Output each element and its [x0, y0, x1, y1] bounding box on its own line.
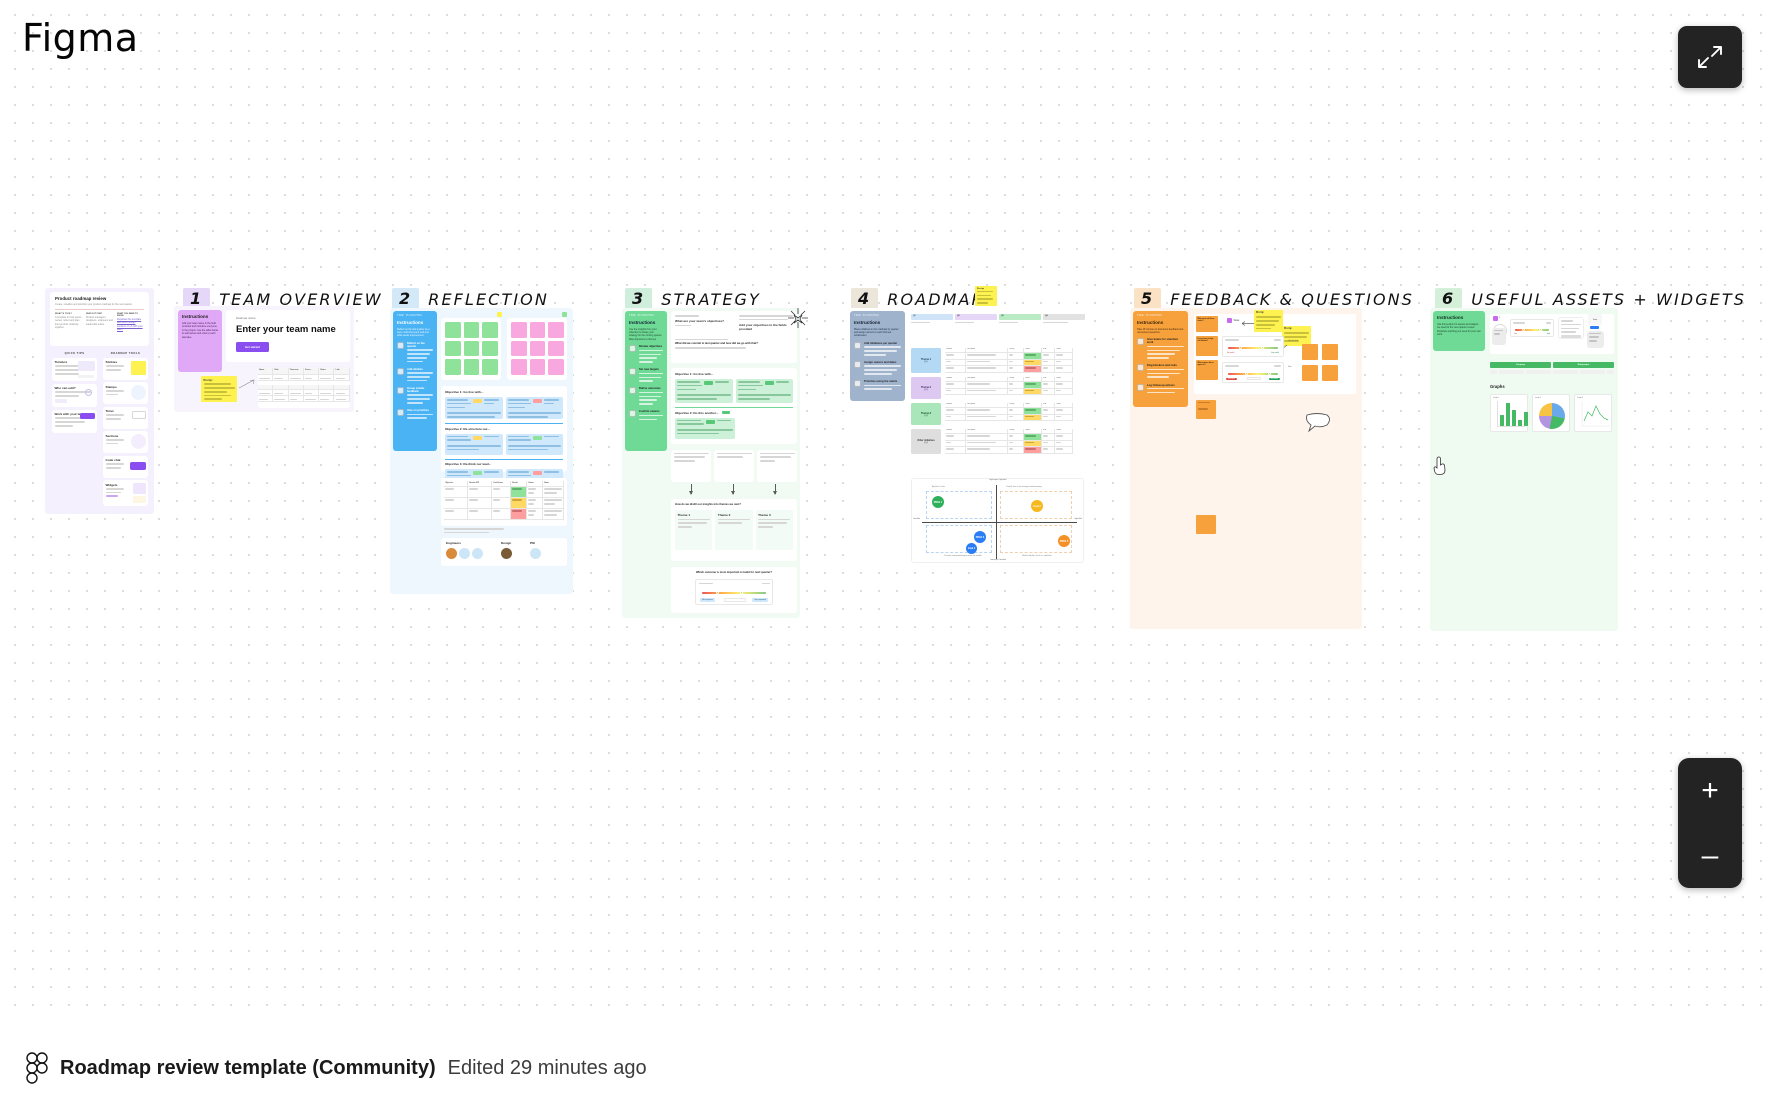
roadmap-tool-card[interactable]: Sections	[103, 431, 148, 453]
table-header-cell: Role	[273, 368, 288, 375]
sticky-note[interactable]	[511, 322, 527, 338]
matrix-bubble[interactable]: Goal 2	[1031, 500, 1043, 512]
form-widget[interactable]	[1558, 317, 1584, 339]
instruction-item-title: Add initiatives per quarter	[864, 342, 901, 345]
table-row[interactable]	[444, 509, 564, 520]
matrix-y-bottom-label: Low impact / low effort	[980, 560, 1016, 561]
section1-instructions-card[interactable]: Instructions Add your team name in the f…	[178, 310, 222, 372]
avatar[interactable]	[501, 548, 512, 559]
bullet-icon	[1137, 364, 1144, 371]
section-2-frame[interactable]: TIME: 15 MINUTES Instructions Reflect on…	[390, 308, 573, 594]
sticky-note[interactable]	[464, 341, 480, 357]
vote-icon[interactable]	[1227, 318, 1232, 323]
cover-subtitle: Create, visualize and prioritize your pr…	[55, 303, 144, 306]
bullet-icon	[1137, 338, 1144, 345]
bar	[1512, 410, 1516, 426]
sticky-note[interactable]	[445, 341, 461, 357]
avatar-group: Design	[501, 541, 512, 559]
cover-col3-head: WHAT YOU NEED TO KNOW	[117, 313, 144, 317]
sticky-note-pro-tip[interactable]: Pro tip:	[201, 376, 237, 402]
roadmap-theme-row[interactable]: Theme 2 (Q2) Initiative Description Prio…	[911, 377, 1085, 399]
roadmap-tool-card[interactable]: Widgets	[103, 480, 148, 506]
roadmap-tool-card[interactable]: Code chat	[103, 456, 148, 478]
annotation-text: Vote	[1288, 366, 1292, 368]
instructions-body: Add your team name in the field provided…	[182, 322, 218, 339]
theme-pill[interactable]: Theme 1 (Q1)	[911, 348, 941, 373]
instruction-item: Reflect on the quarter	[397, 342, 433, 365]
matrix-bubble[interactable]: PROJ 3	[974, 531, 986, 543]
bar	[1518, 420, 1522, 427]
needs-work-grid[interactable]	[511, 322, 564, 375]
roadmap-tool-title: Sections	[106, 434, 127, 438]
team-name-card[interactable]: Roadmap review Enter your team name Get …	[226, 310, 350, 362]
bullet-icon	[397, 387, 404, 394]
objective-card[interactable]	[675, 379, 733, 403]
slider-right-label: Very useful	[1269, 378, 1280, 380]
slider-track[interactable]	[702, 592, 766, 594]
objective-card[interactable]	[675, 418, 735, 439]
insight-column[interactable]	[714, 450, 754, 482]
sticky-note[interactable]	[482, 359, 498, 375]
matrix-quadrant-label-br: Build a tidy bar, but it is a small win	[1006, 555, 1068, 557]
down-arrow-icon	[691, 484, 692, 494]
table-row[interactable]	[444, 498, 564, 509]
sticky-note[interactable]	[464, 359, 480, 375]
bar	[1500, 415, 1504, 426]
table-row[interactable]	[945, 366, 1085, 373]
objective-card[interactable]	[506, 434, 564, 455]
theme-sub: (Q1)	[924, 361, 928, 363]
instruction-item: Log follow-up actions	[1137, 384, 1184, 396]
bar	[1506, 403, 1510, 426]
status-chip	[533, 471, 542, 475]
chart-title: Graph 1	[1491, 395, 1527, 400]
slider-left-label: Not useful	[1226, 378, 1237, 380]
sticky-note[interactable]	[530, 359, 546, 375]
card-eyebrow: Roadmap review	[236, 317, 340, 320]
matrix-x-right-label: High effort	[1072, 519, 1082, 520]
table-row[interactable]	[258, 375, 350, 381]
themes-panel[interactable]: How do we distill our insights into them…	[671, 499, 797, 561]
instruction-item: Confirm owners	[629, 410, 663, 422]
needs-work-panel[interactable]	[507, 318, 567, 380]
theme-label: Theme 2	[718, 513, 750, 517]
status-chip	[473, 399, 482, 403]
roadmap-theme-row[interactable]: Theme 1 (Q1) Initiative Description Prio…	[911, 348, 1085, 373]
sticky-note[interactable]	[511, 359, 527, 375]
section-header-6: 6 USEFUL ASSETS + WIDGETS	[1435, 288, 1746, 310]
bullet-icon	[854, 342, 861, 349]
section4-instructions-card[interactable]: TIME: 30 MINUTES Instructions Place init…	[850, 311, 905, 401]
section-number-5: 5	[1134, 288, 1161, 310]
objective-card[interactable]	[506, 397, 564, 419]
roadmap-tool-card[interactable]: Timer	[103, 407, 148, 429]
roadmap-tool-title: Widgets	[106, 483, 127, 487]
instruction-item-title: Vote on priorities	[407, 409, 433, 412]
sticky-note[interactable]	[530, 322, 546, 338]
quarter-column[interactable]: Q2	[955, 314, 997, 325]
objectives-panel[interactable]: Objective 1: Go live with...	[441, 386, 567, 472]
status-chip	[765, 381, 774, 385]
chart-title: Graph 3	[1575, 395, 1611, 400]
slider-handle[interactable]	[740, 591, 743, 594]
quarter-column[interactable]: Q4	[1043, 314, 1085, 325]
instruction-item-title: Define outcomes	[639, 387, 663, 390]
instruction-item-title: Give kudos for standout work	[1147, 338, 1184, 344]
slider-track[interactable]	[1228, 347, 1278, 349]
sticky-note[interactable]	[530, 341, 546, 357]
strategy-header-right: Add your objectives in the fields provid…	[739, 323, 793, 331]
sticky-note[interactable]	[548, 359, 564, 375]
bullet-icon	[854, 380, 861, 387]
hand-cursor-icon	[1432, 456, 1448, 476]
sticky-note[interactable]	[1196, 515, 1216, 534]
cover-col3-body[interactable]: Duplicate this template and work through…	[117, 318, 144, 332]
instruction-item-title: Set new targets	[639, 368, 663, 371]
instruction-item-title: Assign owners and dates	[864, 361, 901, 364]
stamp-icon[interactable]	[562, 312, 567, 317]
theme-card[interactable]: Theme 2	[715, 510, 752, 550]
slider-left-label: Not useful	[1227, 353, 1234, 354]
section-1-frame[interactable]: Instructions Add your team name in the f…	[174, 306, 354, 412]
slider-handle[interactable]	[1261, 346, 1264, 349]
slider-right-label: Very useful	[1271, 353, 1279, 354]
roadmap-tool-title: Timer	[106, 409, 127, 413]
avatar-group: Engineers	[446, 541, 483, 559]
sticky-note[interactable]	[1322, 344, 1338, 360]
pie-chart[interactable]: Graph 2	[1532, 394, 1570, 432]
slider-handle[interactable]	[1239, 346, 1242, 349]
sticky-note[interactable]	[464, 322, 480, 338]
figma-canvas[interactable]: 1 TEAM OVERVIEW 2 REFLECTION 3 STRATEGY …	[0, 0, 1768, 1114]
down-arrow-icon	[733, 484, 734, 494]
slider-question: Which outcome is most important to build…	[675, 571, 793, 574]
matrix-quadrant-label-tl: Big bets / rocks	[932, 486, 945, 488]
instructions-body: Use this section for assets and widgets …	[1437, 323, 1481, 337]
sticky-note-feedback[interactable]: What actions did we agree on?	[1196, 360, 1218, 380]
instruction-item-title: Reflect on the quarter	[407, 342, 433, 348]
avatar-group-label: Design	[501, 541, 512, 545]
instructions-title: Instructions	[1137, 320, 1184, 325]
matrix-x-axis	[922, 522, 1077, 523]
cover-header-card: Product roadmap review Create, visualize…	[50, 292, 149, 346]
matrix-y-axis	[996, 485, 997, 559]
quarter-column[interactable]: Q1	[911, 314, 953, 325]
starburst-doodle-icon	[786, 306, 810, 330]
instruction-item: Define outcomes	[629, 387, 663, 407]
quarter-label: Q2	[955, 314, 997, 320]
objective-card[interactable]	[736, 379, 794, 403]
objective-group-label: Objective 2: Re-structure our...	[445, 427, 563, 431]
matrix-x-left-label: Low effort	[913, 519, 923, 520]
section-number-2: 2	[392, 288, 419, 310]
down-arrow-icon	[775, 484, 776, 494]
sticky-note-label: Pro tip:	[1256, 312, 1281, 315]
sticky-note[interactable]	[511, 341, 527, 357]
vote-icon[interactable]	[1493, 316, 1498, 321]
theme-pill[interactable]: Other initiatives (Q4)	[911, 429, 941, 454]
matrix-bubble[interactable]: PROJ 1	[932, 496, 944, 508]
slider-left-label: Low	[1514, 334, 1517, 335]
theme-card[interactable]: Theme 1	[675, 510, 712, 550]
objective-group-label: Objective 3: Re-think our lead...	[445, 462, 563, 466]
quick-tip-card[interactable]: Timebox	[52, 358, 97, 381]
sticky-note[interactable]	[1302, 344, 1318, 360]
matrix-bubble[interactable]: Goal 4	[966, 543, 977, 554]
table-row[interactable]	[258, 396, 350, 402]
status-chip	[704, 381, 713, 385]
bullet-icon	[629, 410, 636, 417]
slider-widget[interactable]: Not useful Very useful	[1222, 362, 1284, 383]
section6-instructions-card[interactable]: Instructions Use this section for assets…	[1433, 311, 1485, 351]
sticky-note-feedback[interactable]: Do you have a high-risk blocker?	[1196, 336, 1218, 356]
objective-card[interactable]	[445, 434, 503, 455]
instruction-item: Flag blockers and risks	[1137, 364, 1184, 380]
roadmap-tool-card[interactable]: Stickies	[103, 358, 148, 380]
instruction-item: Add initiatives per quarter	[854, 342, 901, 358]
theme-sub: (Q4)	[924, 442, 928, 444]
sticky-note[interactable]	[482, 341, 498, 357]
bullet-icon	[397, 409, 404, 416]
slider-handle[interactable]	[1245, 372, 1248, 375]
note-widget[interactable]	[1492, 328, 1506, 345]
section-label-4: ROADMAP	[887, 290, 983, 309]
instruction-item: Prioritise using the matrix	[854, 380, 901, 392]
roadmap-theme-rows[interactable]: Theme 1 (Q1) Initiative Description Prio…	[911, 348, 1085, 454]
theme-question: How do we distill our insights into them…	[675, 503, 793, 506]
quarter-column[interactable]: Q3	[999, 314, 1041, 325]
theme-pill[interactable]: Theme 2 (Q2)	[911, 377, 941, 399]
objective-card[interactable]	[445, 397, 503, 419]
section5-instructions-card[interactable]: TIME: 15 MINUTES Instructions Take 15 mi…	[1133, 311, 1188, 407]
instruction-item-title: Add stickies	[407, 368, 433, 371]
bullet-icon	[629, 387, 636, 394]
prioritisation-matrix[interactable]: High impact / high effort Low impact / l…	[911, 478, 1084, 563]
roadmap-tool-title: Stamps	[106, 385, 127, 389]
slider-handle[interactable]	[1539, 328, 1542, 331]
slider-track[interactable]	[1515, 329, 1549, 331]
theme-label: Theme 3	[758, 513, 790, 517]
theme-label: Theme 1	[678, 513, 710, 517]
vote-widget[interactable]: Votes	[1227, 318, 1239, 323]
table-row[interactable]	[945, 389, 1085, 396]
sticky-note[interactable]	[548, 341, 564, 357]
status-chip	[706, 420, 715, 424]
instructions-eyebrow: TIME: 15 MINUTES	[1137, 315, 1184, 317]
speech-bubble-icon[interactable]	[1303, 412, 1333, 434]
bullet-icon	[854, 361, 861, 368]
quarter-label: Q3	[999, 314, 1041, 320]
badge-widget[interactable]	[1590, 326, 1599, 329]
sticky-note[interactable]	[548, 322, 564, 338]
sticky-note-roadmap-header[interactable]: Pro tip	[975, 286, 997, 306]
instruction-item-title: Group similar feedback	[407, 387, 433, 393]
stamp-icon[interactable]	[497, 312, 502, 317]
graphs-heading: Graphs	[1490, 384, 1505, 389]
bar	[1524, 412, 1528, 426]
avatar-group-label: Engineers	[446, 541, 483, 545]
quick-tip-card[interactable]: Work with your team	[52, 410, 97, 433]
slider-handle[interactable]	[1522, 328, 1525, 331]
theme-sub: (Q2)	[924, 389, 928, 391]
section-number-4: 4	[851, 288, 878, 310]
quick-tip-card[interactable]: Who can edit?	[52, 384, 97, 407]
section-header-5: 5 FEEDBACK & QUESTIONS	[1134, 288, 1414, 310]
instructions-body: Place initiatives in the roadmap by quar…	[854, 328, 901, 338]
annotation-text: Use this tool	[1288, 340, 1298, 342]
sticky-note-pro-tip[interactable]: Pro tip:	[1282, 326, 1311, 346]
instruction-item: Assign owners and dates	[854, 361, 901, 377]
status-chip	[533, 436, 542, 440]
slider-handle[interactable]	[716, 591, 719, 594]
team-table[interactable]: Name Role Timezone Focus Notes Link	[258, 368, 350, 408]
cover-col1-body: A template to help teams review, reflect…	[55, 316, 82, 330]
slider-panel[interactable]: Which outcome is most important to build…	[671, 567, 797, 613]
cover-col2-head: WHO IS IT FOR?	[86, 313, 113, 315]
insight-columns[interactable]	[671, 450, 797, 490]
sticky-note-label: Pro tip:	[204, 379, 235, 382]
tag-label: Role/project	[1553, 362, 1614, 368]
matrix-y-top-label: High impact / high effort	[980, 480, 1016, 481]
table-row[interactable]	[945, 447, 1085, 454]
get-started-button[interactable]: Get started	[236, 342, 269, 352]
team-avatars-panel[interactable]: Engineers Design PM	[441, 538, 567, 566]
bullet-icon	[629, 345, 636, 352]
instruction-item: Set new targets	[629, 368, 663, 384]
sticky-note[interactable]	[1196, 400, 1216, 419]
status-chip	[473, 471, 482, 475]
objective-group-label: Objective 1: Go live with...	[445, 390, 563, 394]
section-3-frame[interactable]: TIME: 30 MINUTES Instructions Use the in…	[622, 308, 800, 618]
instruction-item: Review objectives	[629, 345, 663, 365]
chart-title: Graph 2	[1533, 395, 1569, 400]
strategy-header-card[interactable]: What are your team's objectives? Add you…	[671, 311, 797, 363]
slider-widget[interactable]: Not useful Very useful	[1222, 336, 1284, 357]
instruction-item-title: Review objectives	[639, 345, 663, 348]
bullet-icon	[397, 368, 404, 375]
section-6-frame[interactable]: Instructions Use this section for assets…	[1430, 308, 1618, 631]
quick-tips-column: QUICK TIPS Timebox Who can edit?	[52, 352, 97, 433]
instructions-body: Take 15 minutes to document feedback and…	[1137, 328, 1184, 335]
theme-card[interactable]: Theme 3	[756, 510, 793, 550]
avatar[interactable]	[459, 548, 470, 559]
sticky-note[interactable]	[482, 322, 498, 338]
roadmap-theme-row[interactable]: Theme 3 (Q3) Initiative Description Prio…	[911, 403, 1085, 425]
pie-slices	[1539, 403, 1565, 429]
initiatives-table[interactable]: Initiative Description Priority Status E…	[945, 429, 1085, 454]
slider-left-label: Not important	[700, 598, 715, 602]
roadmap-tool-title: Stickies	[106, 360, 127, 364]
insight-column[interactable]	[757, 450, 797, 482]
connector-arrow-icon	[238, 378, 256, 390]
sticky-note-text: Do you have a high-risk blocker?	[1196, 336, 1218, 343]
avatar[interactable]	[472, 548, 483, 559]
section2-instructions-card[interactable]: TIME: 15 MINUTES Instructions Reflect on…	[393, 311, 437, 451]
instruction-item: Give kudos for standout work	[1137, 338, 1184, 361]
instructions-title: Instructions	[629, 320, 663, 325]
roadmap-tool-card[interactable]: Stamps	[103, 382, 148, 404]
initiatives-table[interactable]: Initiative Description Priority Status E…	[945, 348, 1085, 373]
section-header-3: 3 STRATEGY	[625, 288, 761, 310]
note-widget[interactable]	[1587, 331, 1604, 348]
line-series	[1580, 401, 1611, 429]
table-header-cell: Focus	[304, 368, 319, 375]
instructions-title: Instructions	[1437, 315, 1481, 320]
cover-col2-body: Product managers, designers, engineers a…	[86, 316, 113, 326]
sticky-note[interactable]	[1322, 365, 1338, 381]
theme-sub: (Q3)	[924, 415, 928, 417]
avatar[interactable]	[530, 548, 541, 559]
instructions-body: Reflect on the last quarter as a team. A…	[397, 328, 433, 338]
matrix-bubble[interactable]: PROJ 5	[1058, 535, 1070, 547]
quarter-label: Q4	[1043, 314, 1085, 320]
sticky-note[interactable]	[1302, 365, 1318, 381]
table-row[interactable]	[945, 415, 1085, 422]
sticky-note-pro-tip[interactable]: Pro tip:	[1254, 310, 1283, 332]
theme-pill[interactable]: Theme 3 (Q3)	[911, 403, 941, 425]
went-well-grid[interactable]	[445, 322, 498, 375]
instructions-eyebrow: TIME: 30 MINUTES	[629, 315, 663, 317]
status-chip	[722, 411, 730, 414]
slider-handle[interactable]	[1268, 372, 1271, 375]
objective-group-label: Objective 1: Go live with...	[675, 372, 793, 376]
team-name-heading: Enter your team name	[236, 324, 340, 335]
section-label-5: FEEDBACK & QUESTIONS	[1170, 290, 1414, 309]
vote-count: Votes	[1234, 320, 1240, 322]
section-label-6: USEFUL ASSETS + WIDGETS	[1471, 290, 1746, 309]
table-header-cell: Notes	[319, 368, 334, 375]
instructions-title: Instructions	[397, 320, 433, 325]
sticky-note[interactable]	[445, 359, 461, 375]
strategy-question: What did we commit to last quarter and h…	[675, 342, 793, 345]
instruction-item-title: Confirm owners	[639, 410, 663, 413]
results-table[interactable]: Objective Results KPI Confidence Result …	[441, 478, 567, 526]
status-chip	[473, 436, 482, 440]
sticky-note-feedback[interactable]: What went well these weeks?	[1196, 316, 1218, 332]
slider-widget[interactable]: Low High	[1510, 319, 1554, 337]
instruction-item-title: Prioritise using the matrix	[864, 380, 901, 383]
bullet-icon	[629, 368, 636, 375]
table-row[interactable]	[444, 487, 564, 498]
tag-row[interactable]: Company Role/project	[1490, 362, 1614, 374]
sticky-note[interactable]	[445, 322, 461, 338]
bar-chart[interactable]: Graph 1	[1490, 394, 1528, 432]
cover-title: Product roadmap review	[55, 296, 144, 301]
instructions-eyebrow: TIME: 15 MINUTES	[397, 315, 433, 317]
section-5-frame[interactable]: TIME: 15 MINUTES Instructions Take 15 mi…	[1130, 308, 1362, 629]
insight-column[interactable]	[671, 450, 711, 482]
instructions-title: Instructions	[182, 314, 218, 319]
section3-instructions-card[interactable]: TIME: 30 MINUTES Instructions Use the in…	[625, 311, 667, 451]
matrix-quadrant-label-tr: Careful: this is the strategic workstrea…	[1006, 486, 1042, 488]
slider-widget[interactable]: Not important Very important	[695, 579, 773, 605]
counter-widget[interactable]: Votes	[1588, 314, 1602, 325]
sticky-note-text: What actions did we agree on?	[1196, 360, 1218, 367]
line-chart[interactable]: Graph 3	[1574, 394, 1612, 432]
roadmap-theme-row[interactable]: Other initiatives (Q4) Initiative Descri…	[911, 429, 1085, 454]
status-chip	[533, 399, 542, 403]
initiatives-table[interactable]: Initiative Description Priority Status E…	[945, 403, 1085, 425]
objectives-panel[interactable]: Objective 1: Go live with...	[671, 368, 797, 444]
avatar[interactable]	[446, 548, 457, 559]
went-well-panel[interactable]	[441, 318, 501, 380]
vote-widget[interactable]: 1	[1493, 316, 1500, 321]
initiatives-table[interactable]: Initiative Description Priority Status E…	[945, 377, 1085, 399]
section-number-3: 3	[625, 288, 652, 310]
cover-frame[interactable]: Product roadmap review Create, visualize…	[45, 288, 154, 514]
counter-label: Votes	[1593, 319, 1597, 321]
bullet-icon	[397, 342, 404, 349]
